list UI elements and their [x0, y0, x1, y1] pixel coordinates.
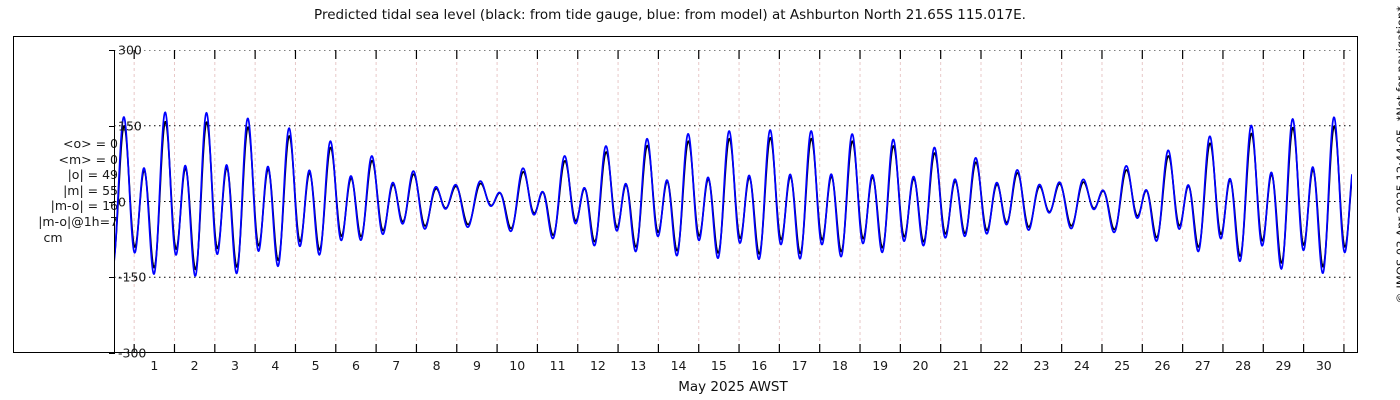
- x-tick-label: 23: [1034, 358, 1050, 373]
- y-tick-mark: [109, 202, 115, 203]
- tide-series-svg: [114, 50, 1352, 353]
- x-tick-label: 10: [509, 358, 525, 373]
- copyright-text: © IMOS 03-Apr-2025 12:44:05. *Not for na…: [1394, 6, 1400, 304]
- statistics-block: <o> = 0<m> = 0|o| = 49|m| = 55|m-o| = 16…: [6, 136, 118, 245]
- x-tick-label: 11: [550, 358, 566, 373]
- x-tick-label: 4: [271, 358, 279, 373]
- x-tick-label: 7: [392, 358, 400, 373]
- x-tick-label: 27: [1195, 358, 1211, 373]
- x-tick-label: 30: [1316, 358, 1332, 373]
- y-tick-label: -150: [118, 270, 146, 285]
- x-tick-label: 14: [671, 358, 687, 373]
- stat-units: cm: [6, 230, 118, 246]
- x-tick-label: 5: [312, 358, 320, 373]
- x-tick-label: 17: [792, 358, 808, 373]
- x-tick-label: 2: [191, 358, 199, 373]
- y-tick-mark: [109, 277, 115, 278]
- x-tick-label: 20: [913, 358, 929, 373]
- x-tick-label: 15: [711, 358, 727, 373]
- x-tick-label: 28: [1235, 358, 1251, 373]
- series-line-observed: [114, 122, 1352, 270]
- copyright-notice: © IMOS 03-Apr-2025 12:44:05. *Not for na…: [1379, 0, 1399, 400]
- x-tick-label: 16: [751, 358, 767, 373]
- x-tick-label: 24: [1074, 358, 1090, 373]
- stat-line-0: <o> = 0: [6, 136, 118, 152]
- x-tick-label: 1: [150, 358, 158, 373]
- y-tick-label: 0: [118, 194, 126, 209]
- y-tick-label: -300: [118, 346, 146, 361]
- y-tick-mark: [109, 126, 115, 127]
- stat-line-3: |m| = 55: [6, 183, 118, 199]
- x-tick-label: 22: [993, 358, 1009, 373]
- page-title: Predicted tidal sea level (black: from t…: [0, 7, 1340, 23]
- x-tick-label: 13: [630, 358, 646, 373]
- x-tick-label: 25: [1114, 358, 1130, 373]
- x-tick-label: 3: [231, 358, 239, 373]
- x-tick-label: 19: [872, 358, 888, 373]
- x-axis-title: May 2025 AWST: [114, 379, 1352, 395]
- x-tick-label: 21: [953, 358, 969, 373]
- series-group: [114, 112, 1352, 276]
- stat-line-5: |m-o|@1h=7: [6, 214, 118, 230]
- x-tick-label: 26: [1155, 358, 1171, 373]
- y-tick-mark: [109, 353, 115, 354]
- y-tick-label: 300: [118, 43, 142, 58]
- x-tick-label: 9: [473, 358, 481, 373]
- x-tick-label: 8: [433, 358, 441, 373]
- plot-area: [114, 50, 1352, 353]
- x-tick-label: 6: [352, 358, 360, 373]
- x-tick-label: 29: [1275, 358, 1291, 373]
- stat-line-1: <m> = 0: [6, 152, 118, 168]
- stat-line-4: |m-o| = 16: [6, 198, 118, 214]
- series-line-model: [114, 112, 1352, 276]
- stat-line-2: |o| = 49: [6, 167, 118, 183]
- x-tick-label: 18: [832, 358, 848, 373]
- x-tick-label: 12: [590, 358, 606, 373]
- y-tick-label: 150: [118, 118, 142, 133]
- y-tick-mark: [109, 50, 115, 51]
